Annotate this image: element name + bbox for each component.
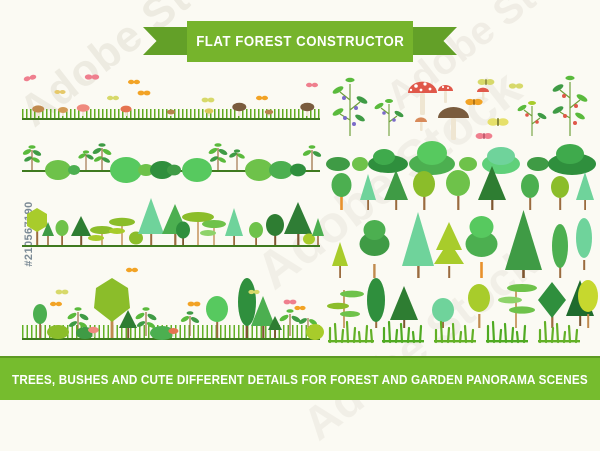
mushroom-icon <box>205 108 214 116</box>
butterfly-icon <box>56 290 69 295</box>
tree-shape <box>521 174 539 210</box>
butterfly-icon <box>126 268 138 272</box>
butterfly-icon <box>476 133 493 139</box>
bush-shape <box>45 160 71 180</box>
element-library <box>326 66 598 344</box>
tree-shape <box>390 286 418 328</box>
tree-shape <box>576 218 592 270</box>
tree-shape <box>327 290 364 328</box>
mushroom-icon <box>77 104 90 116</box>
mushroom-icon <box>120 106 131 116</box>
berry-branch-icon <box>332 78 369 136</box>
mushroom-icon <box>265 110 273 116</box>
ribbon-body: FLAT FOREST CONSTRUCTOR <box>187 21 413 62</box>
tree-shape <box>94 278 130 338</box>
tree-shape <box>332 173 352 210</box>
tree-shape <box>402 212 434 278</box>
tree-shape <box>206 296 228 338</box>
tree-shape <box>88 226 114 245</box>
bush-shape <box>409 141 455 175</box>
berry-branch-icon <box>552 76 589 136</box>
tree-shape <box>200 220 226 245</box>
tree-shape <box>249 222 263 245</box>
butterfly-icon <box>256 96 268 100</box>
sapling-icon <box>279 309 302 336</box>
sapling-icon <box>228 149 245 170</box>
mushroom-icon <box>438 107 469 140</box>
butterfly-icon <box>85 74 99 79</box>
bush-shape <box>459 157 477 171</box>
tree-shape <box>27 208 47 245</box>
bush-shape <box>326 157 350 171</box>
trees-shapes <box>22 190 320 247</box>
grass-tuft-icon <box>434 322 476 342</box>
bush-shape <box>68 165 80 175</box>
butterfly-icon <box>138 91 151 96</box>
butterfly-icon <box>23 74 37 82</box>
tree-shape <box>552 224 568 278</box>
mushroom-icon <box>300 103 314 116</box>
tree-shape <box>505 210 542 278</box>
mushroom-icon <box>415 117 427 131</box>
sapling-icon <box>180 311 200 336</box>
butterfly-icon <box>306 83 318 87</box>
sapling-icon <box>92 143 113 170</box>
bushes-strip <box>22 134 320 172</box>
mushroom-icon <box>477 88 489 100</box>
tree-shape <box>33 304 47 338</box>
butterfly-icon <box>107 96 119 100</box>
bush-shape <box>269 161 293 179</box>
tree-shape <box>434 222 464 278</box>
tree-shape <box>413 171 435 210</box>
bush-shape <box>482 147 520 174</box>
tree-shape <box>56 220 69 245</box>
tree-shape <box>360 174 376 210</box>
butterfly-icon <box>487 118 508 126</box>
tree-shape <box>384 170 408 210</box>
bush-shape <box>110 157 142 183</box>
tree-shape <box>176 222 190 246</box>
footer-bar: TREES, BUSHES AND CUTE DIFFERENT DETAILS… <box>0 358 600 400</box>
tree-shape <box>225 208 243 245</box>
grass-tuft-icon <box>328 322 374 342</box>
tree-shape <box>576 172 594 210</box>
sapling-icon <box>302 145 322 170</box>
footer-caption: TREES, BUSHES AND CUTE DIFFERENT DETAILS… <box>12 372 588 387</box>
illustration-canvas: Adobe Stock Adobe Stock Adobe Stock Adob… <box>0 0 600 400</box>
butterfly-icon <box>509 83 523 88</box>
tree-shape <box>498 284 537 328</box>
library-shapes <box>326 66 598 344</box>
bush-shape <box>368 149 408 173</box>
tree-shape <box>266 214 284 245</box>
tree-shape <box>360 220 390 278</box>
grass-and-mushrooms-strip <box>22 76 320 120</box>
bush-shape <box>182 158 212 182</box>
forest-scene-shapes <box>22 262 320 340</box>
mushroom-icon <box>32 105 44 116</box>
berry-branch-icon <box>374 99 405 136</box>
mushroom-icon <box>408 82 437 115</box>
bush-shape <box>245 159 273 181</box>
butterfly-icon <box>294 306 305 310</box>
tree-shape <box>551 176 569 210</box>
bush-shape <box>47 325 69 339</box>
strip-details-1 <box>22 76 320 120</box>
butterfly-icon <box>188 302 201 307</box>
bushes-shapes <box>22 134 320 172</box>
butterfly-icon <box>54 90 65 94</box>
grass-tuft-icon <box>486 322 528 342</box>
bush-shape <box>548 144 596 175</box>
butterfly-icon <box>478 79 495 85</box>
butterfly-icon <box>202 98 215 103</box>
sapling-icon <box>78 150 95 170</box>
bush-shape <box>352 157 368 171</box>
sapling-icon <box>22 145 42 170</box>
butterfly-icon <box>465 99 482 105</box>
bush-shape <box>167 165 181 176</box>
butterfly-icon <box>284 300 297 305</box>
bush-shape <box>290 164 306 177</box>
tree-shape <box>432 298 454 328</box>
tree-shape <box>538 282 566 328</box>
bush-shape <box>306 324 324 340</box>
grass-tuft-icon <box>538 322 580 342</box>
forest-scene-strip <box>22 262 320 340</box>
trees-strip <box>22 190 320 247</box>
tree-shape <box>468 284 490 328</box>
tree-shape <box>446 170 470 210</box>
grass-tuft-icon <box>382 322 424 342</box>
tree-shape <box>466 216 498 278</box>
berry-branch-icon <box>517 101 548 136</box>
tree-shape <box>71 216 91 245</box>
tree-shape <box>238 278 256 338</box>
butterfly-icon <box>128 80 140 84</box>
mushroom-icon <box>232 103 246 116</box>
tree-shape <box>367 278 385 328</box>
mushroom-icon <box>167 110 175 116</box>
tree-shape <box>332 242 348 278</box>
mushroom-icon <box>58 107 68 116</box>
butterfly-icon <box>50 302 62 306</box>
page-title: FLAT FOREST CONSTRUCTOR <box>196 33 404 50</box>
bush-shape <box>527 157 549 171</box>
title-ribbon: FLAT FOREST CONSTRUCTOR <box>143 21 457 61</box>
mushroom-icon <box>438 85 453 103</box>
